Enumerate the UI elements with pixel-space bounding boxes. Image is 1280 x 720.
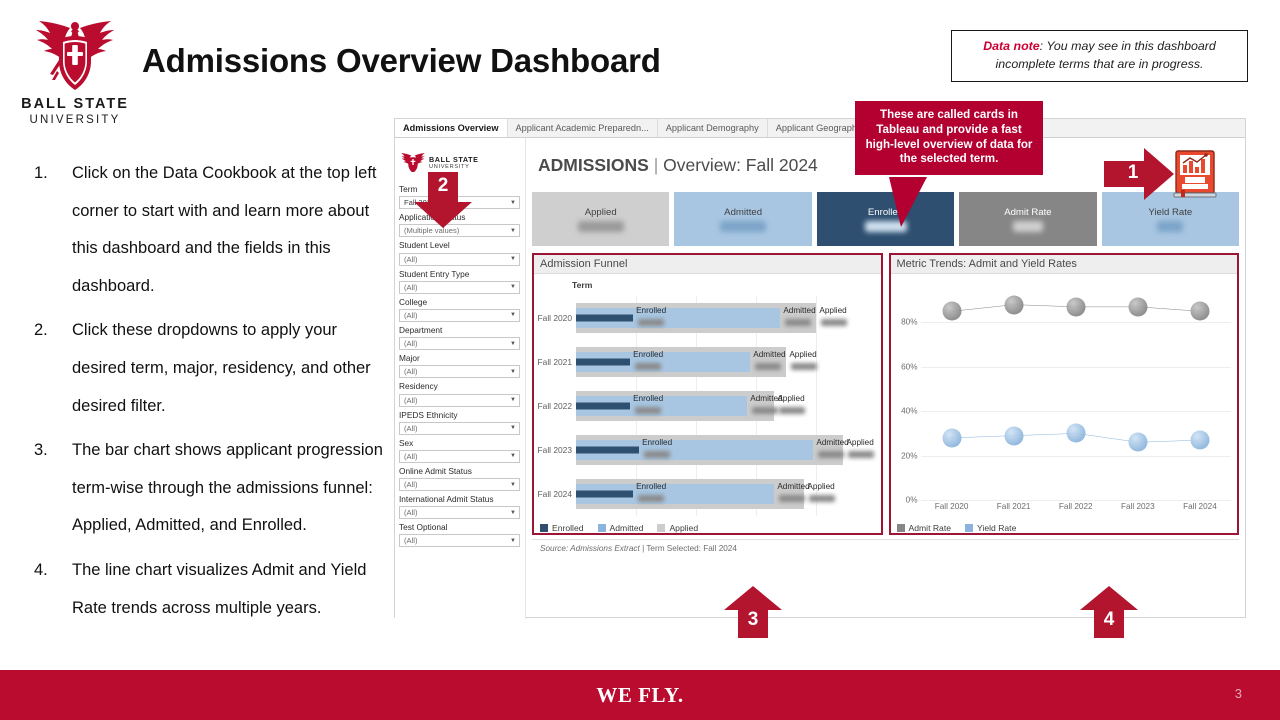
gridline [816,472,817,516]
callout-tail-icon [889,177,927,227]
gridline [816,340,817,384]
marker-arrow-3: 3 [724,586,782,638]
data-cookbook-icon[interactable] [1173,149,1219,199]
filter-value: (All) [404,396,418,405]
legend-item-enrolled[interactable]: Enrolled [540,523,584,533]
panel-title-admission-funnel: Admission Funnel [534,255,881,274]
funnel-category-label: Fall 2020 [534,313,576,323]
funnel-bar-enrolled[interactable] [576,315,633,322]
source-prefix: Source: Admissions Extract [540,544,640,553]
chevron-down-icon: ▼ [510,482,516,488]
legend-label: Admit Rate [909,523,952,533]
kpi-value-redacted [720,221,766,232]
chevron-down-icon: ▼ [510,200,516,206]
instruction-list: 1. Click on the Data Cookbook at the top… [34,155,394,634]
trend-point-yield-rate[interactable] [942,428,961,447]
filter-value: (All) [404,339,418,348]
funnel-value-redacted [785,319,811,326]
chevron-down-icon: ▼ [510,341,516,347]
logo-subname: UNIVERSITY [20,113,130,128]
filter-dropdown-test-optional[interactable]: (All) ▼ [399,534,520,547]
filter-label: Sex [399,438,520,449]
gridline [816,296,817,340]
y-axis-tick-label: 20% [901,451,917,460]
trend-point-yield-rate[interactable] [1190,431,1209,450]
funnel-category-label: Fall 2024 [534,489,576,499]
funnel-category-label: Fall 2023 [534,445,576,455]
filter-value: (All) [404,367,418,376]
filter-value: (All) [404,311,418,320]
metric-trends-panel: Metric Trends: Admit and Yield Rates 0%2… [889,253,1240,535]
dashboard-logo-subname: UNIVERSITY [429,164,479,170]
page-title: Admissions Overview Dashboard [142,42,661,80]
filter-sex: Sex (All) ▼ [399,438,520,463]
funnel-label-admitted: Admitted [816,438,848,447]
gridline [816,384,817,428]
filter-student-entry-type: Student Entry Type (All) ▼ [399,269,520,294]
dashboard-source-bar: Source: Admissions Extract | Term Select… [532,539,1239,553]
list-item-text: Click on the Data Cookbook at the top le… [72,155,394,305]
x-axis-tick-label: Fall 2021 [983,502,1045,518]
legend-item-admit-rate[interactable]: Admit Rate [897,523,952,533]
filter-label: IPEDS Ethnicity [399,410,520,421]
funnel-label-applied: Applied [777,394,804,403]
funnel-track: EnrolledAdmittedApplied [576,428,877,472]
funnel-bar-enrolled[interactable] [576,447,639,454]
filter-value: (All) [404,255,418,264]
legend-swatch-icon [540,524,548,532]
data-note-text-1: : You may see in this dashboard [1040,39,1216,53]
chevron-down-icon: ▼ [510,369,516,375]
marker-arrow-4: 4 [1080,586,1138,638]
list-item-text: Click these dropdowns to apply your desi… [72,312,394,425]
kpi-label: Applied [585,207,617,218]
funnel-label-admitted: Admitted [753,350,785,359]
tab-admissions-overview[interactable]: Admissions Overview [395,119,508,137]
legend-swatch-icon [657,524,665,532]
filter-test-optional: Test Optional (All) ▼ [399,522,520,547]
admission-funnel-chart: Term Fall 2020EnrolledAdmittedAppliedFal… [534,274,881,520]
funnel-track: EnrolledAdmittedApplied [576,340,877,384]
trend-y-axis: 0%20%40%60%80% [891,278,921,500]
filter-label: Residency [399,381,520,392]
kpi-label: Admit Rate [1004,207,1051,218]
chevron-down-icon: ▼ [510,312,516,318]
kpi-value-redacted [578,221,624,232]
funnel-label-enrolled: Enrolled [642,438,672,447]
funnel-label-admitted: Admitted [777,482,809,491]
list-item-text: The line chart visualizes Admit and Yiel… [72,552,394,627]
dashboard-title-rest: Overview: Fall 2024 [663,155,818,175]
filter-dropdown-online-admit-status[interactable]: (All) ▼ [399,478,520,491]
funnel-row[interactable]: Fall 2024EnrolledAdmittedApplied [534,472,877,516]
ball-state-logo: BALL STATE UNIVERSITY [20,14,130,128]
filter-label: Student Entry Type [399,269,520,280]
filter-dropdown-sex[interactable]: (All) ▼ [399,450,520,463]
funnel-value-redacted [752,407,778,414]
logo-name: BALL STATE [20,96,130,113]
marker-arrow-2: 2 [414,172,472,228]
funnel-value-redacted [779,495,805,502]
admission-funnel-panel: Admission Funnel Term Fall 2020EnrolledA… [532,253,883,535]
dashboard-title-separator: | [649,155,663,175]
panel-title-metric-trends: Metric Trends: Admit and Yield Rates [891,255,1238,274]
marker-arrow-1: 1 [1104,148,1174,200]
kpi-value-redacted [1013,221,1043,232]
funnel-track: EnrolledAdmittedApplied [576,384,877,428]
kpi-card-enrolled[interactable]: Enrolled [817,192,954,246]
filter-label: Department [399,325,520,336]
chevron-down-icon: ▼ [510,228,516,234]
filter-dropdown-student-level[interactable]: (All) ▼ [399,253,520,266]
legend-swatch-icon [965,524,973,532]
dashboard-title-bold: ADMISSIONS [538,155,649,175]
list-item: 3. The bar chart shows applicant progres… [34,432,394,545]
metric-trends-chart: 0%20%40%60%80% Fall 2020Fall 2021Fall 20… [891,274,1238,520]
chevron-down-icon: ▼ [510,510,516,516]
chevron-down-icon: ▼ [510,397,516,403]
source-suffix: | Term Selected: Fall 2024 [640,544,737,553]
x-axis-tick-label: Fall 2020 [921,502,983,518]
legend-swatch-icon [598,524,606,532]
kpi-card-admitted[interactable]: Admitted [674,192,811,246]
legend-label: Admitted [610,523,644,533]
dashboard-logo-name: BALL STATE [429,155,479,164]
funnel-row[interactable]: Fall 2021EnrolledAdmittedApplied [534,340,877,384]
panel-row: Admission Funnel Term Fall 2020EnrolledA… [532,253,1239,535]
chevron-down-icon: ▼ [510,425,516,431]
kpi-label: Admitted [724,207,762,218]
slide-root: BALL STATE UNIVERSITY Admissions Overvie… [0,0,1280,720]
legend-item-admitted[interactable]: Admitted [598,523,644,533]
filter-major: Major (All) ▼ [399,353,520,378]
filter-label: Online Admit Status [399,466,520,477]
funnel-label-enrolled: Enrolled [636,482,666,491]
funnel-label-enrolled: Enrolled [633,394,663,403]
funnel-bar-enrolled[interactable] [576,403,630,410]
list-item: 4. The line chart visualizes Admit and Y… [34,552,394,627]
funnel-value-redacted [791,363,817,370]
funnel-category-label: Fall 2022 [534,401,576,411]
chevron-down-icon: ▼ [510,538,516,544]
funnel-value-redacted [848,451,874,458]
source-text: Source: Admissions Extract | Term Select… [540,544,1239,553]
funnel-row[interactable]: Fall 2020EnrolledAdmittedApplied [534,296,877,340]
trend-point-yield-rate[interactable] [1128,433,1147,452]
book-chart-icon [1173,149,1219,199]
funnel-value-redacted [809,495,835,502]
filter-label: Test Optional [399,522,520,533]
y-axis-tick-label: 0% [906,496,918,505]
filter-dropdown-college[interactable]: (All) ▼ [399,309,520,322]
funnel-value-redacted [755,363,781,370]
funnel-row[interactable]: Fall 2023EnrolledAdmittedApplied [534,428,877,472]
filter-dropdown-international-admit-status[interactable]: (All) ▼ [399,506,520,519]
filter-ipeds-ethnicity: IPEDS Ethnicity (All) ▼ [399,410,520,435]
trend-point-yield-rate[interactable] [1004,426,1023,445]
list-item-number: 2. [34,312,72,425]
funnel-label-admitted: Admitted [783,306,815,315]
trend-plot-area [921,278,1232,500]
list-item-number: 3. [34,432,72,545]
y-axis-tick-label: 80% [901,318,917,327]
filter-value: (All) [404,452,418,461]
legend-label: Yield Rate [977,523,1016,533]
x-axis-tick-label: Fall 2024 [1169,502,1231,518]
funnel-value-redacted [818,451,844,458]
data-note-keyword: Data note [983,39,1039,53]
kpi-card-admit-rate[interactable]: Admit Rate [959,192,1096,246]
filter-value: (All) [404,508,418,517]
funnel-value-redacted [635,407,661,414]
list-item: 1. Click on the Data Cookbook at the top… [34,155,394,305]
trend-point-yield-rate[interactable] [1066,424,1085,443]
cardinal-crest-icon [401,152,425,172]
dashboard-tabbar: Admissions Overview Applicant Academic P… [395,119,1245,138]
trend-point-admit-rate[interactable] [1004,295,1023,314]
funnel-bar-enrolled[interactable] [576,359,630,366]
kpi-label: Yield Rate [1148,207,1192,218]
trend-point-admit-rate[interactable] [942,302,961,321]
page-number: 3 [1235,686,1242,701]
list-item-text: The bar chart shows applicant progressio… [72,432,394,545]
filter-dropdown-ipeds-ethnicity[interactable]: (All) ▼ [399,422,520,435]
footer-tagline: WE FLY. [0,683,1280,708]
trend-point-admit-rate[interactable] [1190,302,1209,321]
dashboard-title: ADMISSIONS | Overview: Fall 2024 [538,155,818,176]
trend-legend: Admit Rate Yield Rate [891,520,1238,533]
funnel-label-enrolled: Enrolled [636,306,666,315]
filter-dropdown-student-entry-type[interactable]: (All) ▼ [399,281,520,294]
chevron-down-icon: ▼ [510,453,516,459]
legend-swatch-icon [897,524,905,532]
callout-bubble: These are called cards in Tableau and pr… [855,101,1043,175]
marker-number: 2 [414,175,472,197]
trend-x-axis: Fall 2020Fall 2021Fall 2022Fall 2023Fall… [921,502,1232,518]
dashboard-body: BALL STATE UNIVERSITY Term Fall 2024 ▼ A… [395,138,1245,619]
funnel-axis-label: Term [572,280,592,290]
funnel-value-redacted [635,363,661,370]
legend-item-yield-rate[interactable]: Yield Rate [965,523,1016,533]
funnel-label-applied: Applied [789,350,816,359]
funnel-rows: Fall 2020EnrolledAdmittedAppliedFall 202… [534,296,877,516]
funnel-bar-enrolled[interactable] [576,491,633,498]
kpi-card-applied[interactable]: Applied [532,192,669,246]
data-note-box: Data note: You may see in this dashboard… [951,30,1248,82]
y-axis-tick-label: 40% [901,407,917,416]
x-axis-tick-label: Fall 2022 [1045,502,1107,518]
chevron-down-icon: ▼ [510,256,516,262]
filter-residency: Residency (All) ▼ [399,381,520,406]
data-note-line-2: incomplete terms that are in progress. [962,56,1237,74]
list-item: 2. Click these dropdowns to apply your d… [34,312,394,425]
list-item-number: 4. [34,552,72,627]
filter-value: (All) [404,536,418,545]
list-item-number: 1. [34,155,72,305]
filter-value: (All) [404,480,418,489]
kpi-value-redacted [1157,221,1183,232]
tab-applicant-academic-preparedness[interactable]: Applicant Academic Preparedn... [508,119,658,137]
filter-dropdown-department[interactable]: (All) ▼ [399,337,520,350]
filter-label: College [399,297,520,308]
filter-dropdown-residency[interactable]: (All) ▼ [399,394,520,407]
funnel-label-applied: Applied [819,306,846,315]
marker-number: 3 [724,609,782,631]
funnel-value-redacted [638,319,664,326]
kpi-card-row: Applied Admitted Enrolled Admit Rate [532,192,1239,246]
filter-dropdown-major[interactable]: (All) ▼ [399,365,520,378]
funnel-value-redacted [779,407,805,414]
funnel-label-applied: Applied [846,438,873,447]
funnel-track: EnrolledAdmittedApplied [576,296,877,340]
funnel-category-label: Fall 2021 [534,357,576,367]
legend-item-applied[interactable]: Applied [657,523,698,533]
filter-student-level: Student Level (All) ▼ [399,240,520,265]
funnel-value-redacted [821,319,847,326]
filter-international-admit-status: International Admit Status (All) ▼ [399,494,520,519]
y-axis-tick-label: 60% [901,362,917,371]
funnel-row[interactable]: Fall 2022EnrolledAdmittedApplied [534,384,877,428]
funnel-track: EnrolledAdmittedApplied [576,472,877,516]
funnel-label-applied: Applied [807,482,834,491]
funnel-value-redacted [638,495,664,502]
data-note-line-1: Data note: You may see in this dashboard [962,38,1237,56]
gridline [921,500,1232,501]
filter-department: Department (All) ▼ [399,325,520,350]
funnel-value-redacted [644,451,670,458]
kpi-card-yield-rate[interactable]: Yield Rate [1102,192,1239,246]
filter-label: International Admit Status [399,494,520,505]
dashboard-content: ADMISSIONS | Overview: Fall 2024 Applied… [526,138,1245,619]
x-axis-tick-label: Fall 2023 [1107,502,1169,518]
filter-label: Student Level [399,240,520,251]
filter-online-admit-status: Online Admit Status (All) ▼ [399,466,520,491]
legend-label: Applied [669,523,698,533]
cardinal-crest-icon [29,14,121,92]
funnel-label-enrolled: Enrolled [633,350,663,359]
trend-point-admit-rate[interactable] [1128,297,1147,316]
marker-number: 4 [1080,609,1138,631]
chevron-down-icon: ▼ [510,284,516,290]
filter-value: (All) [404,283,418,292]
slide-footer: WE FLY. 3 [0,670,1280,720]
filter-value: (All) [404,424,418,433]
trend-point-admit-rate[interactable] [1066,297,1085,316]
legend-label: Enrolled [552,523,584,533]
funnel-legend: Enrolled Admitted Applied [534,520,881,533]
tab-applicant-demography[interactable]: Applicant Demography [658,119,768,137]
filter-label: Major [399,353,520,364]
marker-number: 1 [1092,162,1174,184]
filter-college: College (All) ▼ [399,297,520,322]
